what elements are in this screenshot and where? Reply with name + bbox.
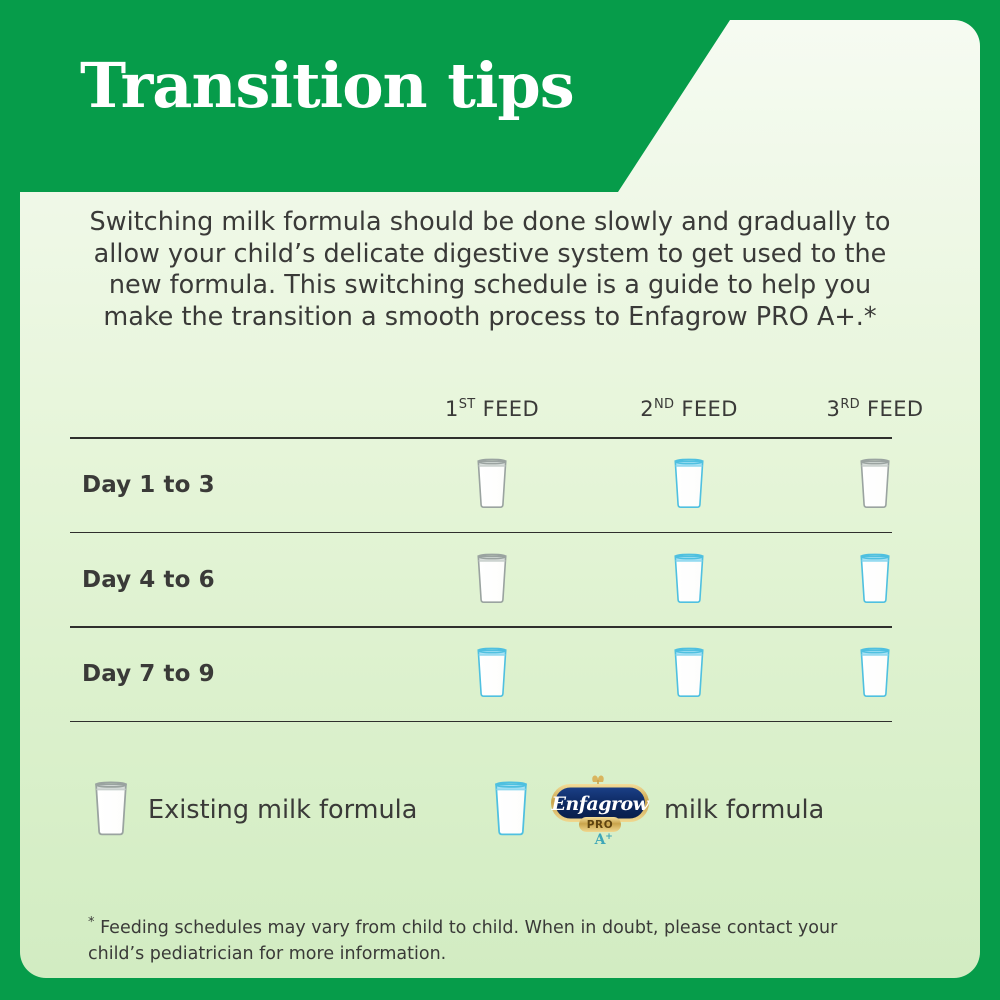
legend-item-existing: Existing milk formula — [88, 770, 417, 850]
enfagrow-logo: Enfagrow PRO A + — [546, 772, 654, 848]
col2-label: FEED — [681, 397, 737, 421]
column-header-feed-1: 1ST FEED — [397, 397, 587, 421]
glass-new-icon — [668, 456, 710, 510]
table-row: Day 4 to 6 — [70, 533, 912, 626]
legend: Existing milk formula — [88, 770, 928, 850]
col1-number: 1 — [445, 397, 459, 421]
col1-label: FEED — [483, 397, 539, 421]
table-divider — [70, 721, 892, 723]
legend-label-existing: Existing milk formula — [148, 795, 417, 825]
row-label-day-7-9: Day 7 to 9 — [82, 661, 215, 687]
column-header-feed-3: 3RD FEED — [780, 397, 970, 421]
cell-day2-feed1 — [397, 551, 587, 609]
glass-existing-icon — [88, 779, 134, 841]
enfagrow-logo-svg: Enfagrow PRO A + — [546, 772, 654, 848]
glass-new-icon — [854, 551, 896, 605]
legend-label-new: milk formula — [664, 795, 824, 825]
glass-new-icon — [854, 645, 896, 699]
col3-ordinal: RD — [840, 397, 860, 412]
table-row: Day 7 to 9 — [70, 628, 912, 721]
cell-day3-feed3 — [780, 645, 970, 703]
col2-ordinal: ND — [654, 397, 674, 412]
glass-new-icon — [668, 551, 710, 605]
cell-day1-feed2 — [594, 456, 784, 514]
cell-day2-feed3 — [780, 551, 970, 609]
glass-new-icon — [668, 645, 710, 699]
glass-existing-icon — [854, 456, 896, 510]
row-label-day-1-3: Day 1 to 3 — [82, 472, 215, 498]
cell-day1-feed1 — [397, 456, 587, 514]
glass-existing-icon — [88, 779, 134, 837]
col2-number: 2 — [640, 397, 654, 421]
row-label-day-4-6: Day 4 to 6 — [82, 567, 215, 593]
legend-item-new: Enfagrow PRO A + milk formula — [488, 770, 824, 850]
col3-label: FEED — [867, 397, 923, 421]
svg-text:PRO: PRO — [587, 819, 614, 831]
column-header-feed-2: 2ND FEED — [594, 397, 784, 421]
intro-paragraph: Switching milk formula should be done sl… — [70, 207, 910, 333]
footnote: * Feeding schedules may vary from child … — [88, 910, 878, 967]
footnote-text: Feeding schedules may vary from child to… — [88, 918, 837, 964]
glass-new-icon — [488, 779, 534, 837]
cell-day3-feed1 — [397, 645, 587, 703]
glass-existing-icon — [471, 456, 513, 510]
svg-text:+: + — [605, 832, 613, 842]
table-row: Day 1 to 3 — [70, 439, 912, 532]
glass-new-icon — [488, 779, 534, 841]
svg-text:Enfagrow: Enfagrow — [550, 793, 649, 815]
page-title: Transition tips — [80, 55, 574, 117]
glass-new-icon — [471, 645, 513, 699]
cell-day3-feed2 — [594, 645, 784, 703]
poster-root: Transition tips Switching milk formula s… — [0, 0, 1000, 1000]
col3-number: 3 — [827, 397, 841, 421]
cell-day1-feed3 — [780, 456, 970, 514]
col1-ordinal: ST — [459, 397, 476, 412]
glass-existing-icon — [471, 551, 513, 605]
cell-day2-feed2 — [594, 551, 784, 609]
table-header-row: 1ST FEED 2ND FEED 3RD FEED — [70, 375, 912, 437]
transition-schedule-table: 1ST FEED 2ND FEED 3RD FEED Day 1 to 3 — [70, 375, 912, 722]
